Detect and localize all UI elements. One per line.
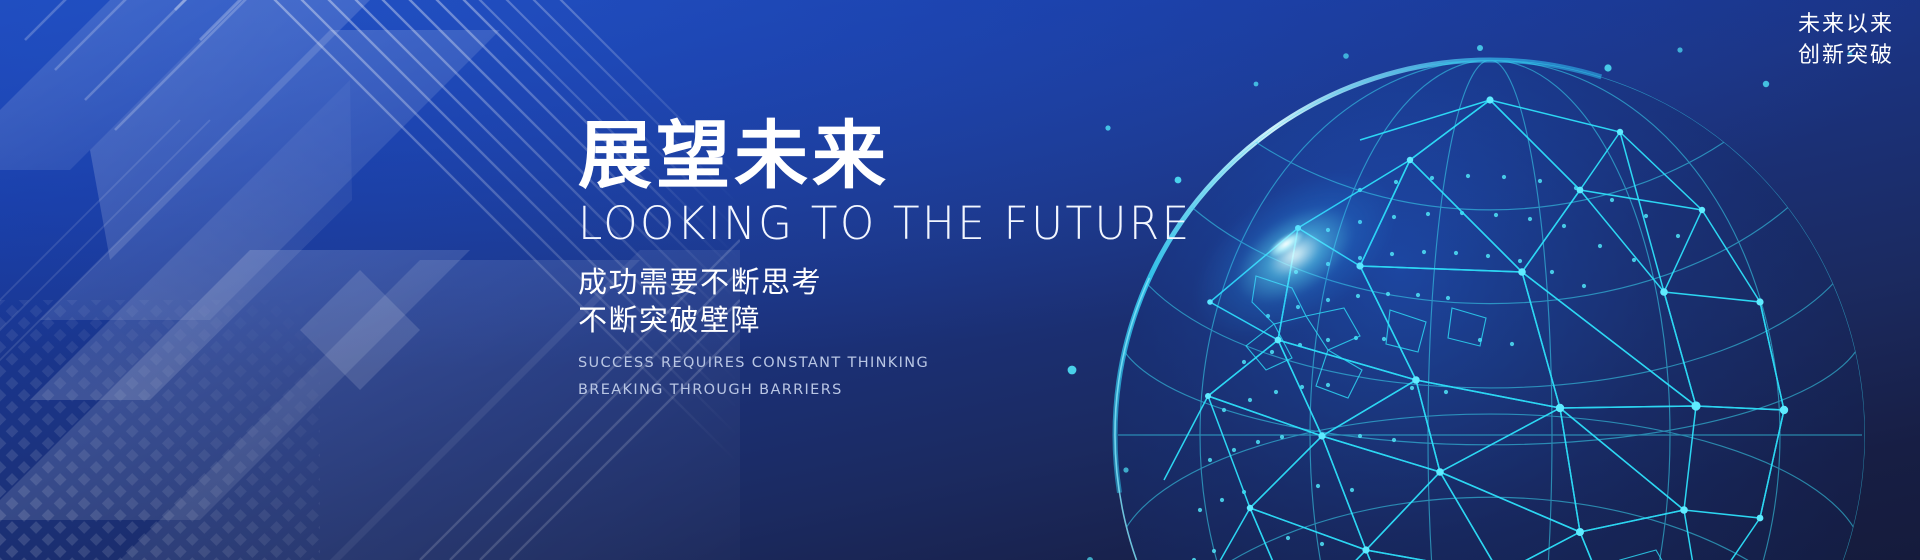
globe-rim-glow-arc xyxy=(1115,60,1865,560)
page-title-en: LOOKING TO THE FUTURE xyxy=(578,199,1199,249)
corner-slogan: 未来以来 创新突破 xyxy=(1798,8,1894,70)
banner: 展望未来 LOOKING TO THE FUTURE 成功需要不断思考 不断突破… xyxy=(0,0,1920,560)
globe-network-mesh xyxy=(1164,100,1784,560)
corner-slogan-line2: 创新突破 xyxy=(1798,39,1894,70)
subtitle-en-line2: BREAKING THROUGH BARRIERS xyxy=(578,377,1218,404)
page-title-cn: 展望未来 xyxy=(578,118,1218,193)
globe-graticule xyxy=(1115,60,1865,560)
globe-sphere xyxy=(1115,60,1865,560)
subtitle-cn-line2: 不断突破壁障 xyxy=(578,302,1218,340)
headline-block: 展望未来 LOOKING TO THE FUTURE 成功需要不断思考 不断突破… xyxy=(578,118,1218,404)
globe-dot-field xyxy=(1190,174,1680,560)
subtitle-en-line1: SUCCESS REQUIRES CONSTANT THINKING xyxy=(578,350,1218,377)
dot-grid-pattern xyxy=(0,300,320,560)
subtitle-cn-line1: 成功需要不断思考 xyxy=(578,264,1218,302)
corner-slogan-line1: 未来以来 xyxy=(1798,8,1894,39)
globe-glow-core xyxy=(1264,226,1308,263)
globe-network-nodes xyxy=(1205,96,1788,560)
